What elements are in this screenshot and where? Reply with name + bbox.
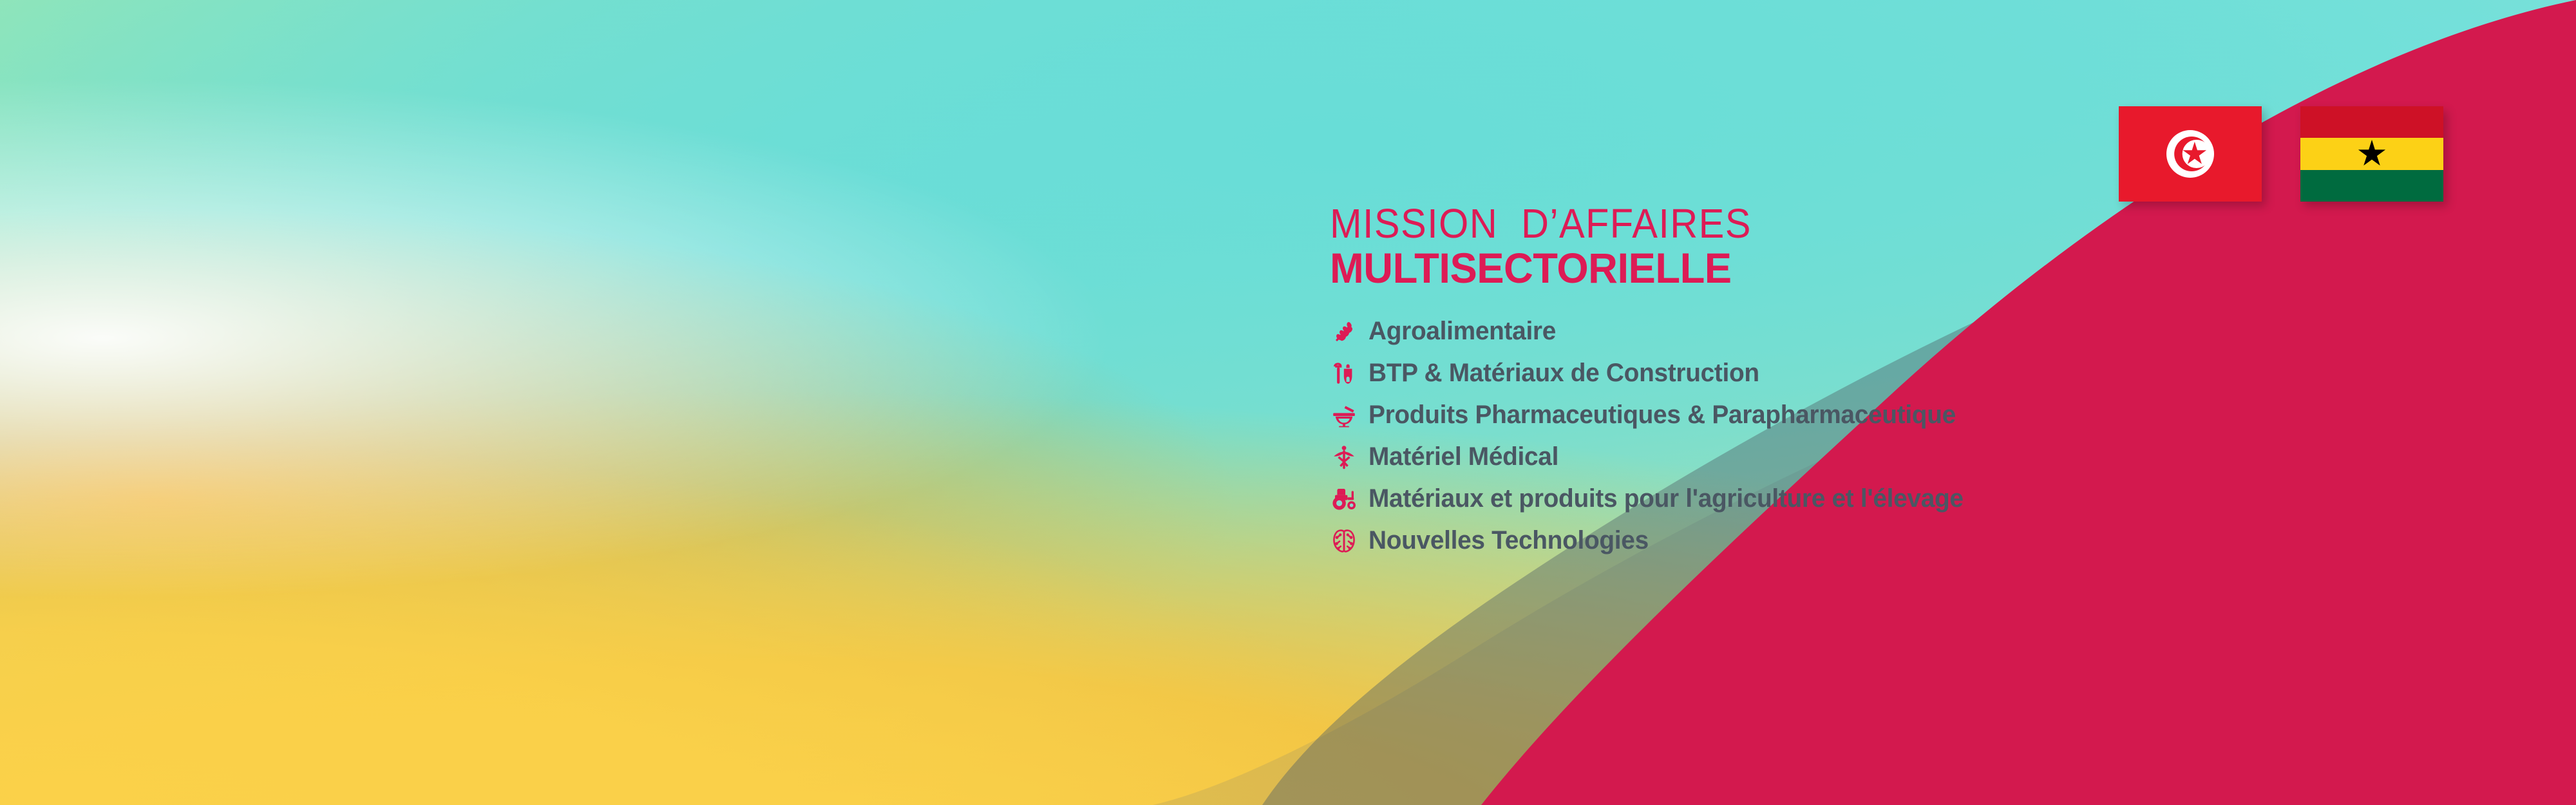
ghana-flag	[2300, 106, 2443, 202]
sector-item-technologies: Nouvelles Technologies	[1330, 520, 1982, 562]
sector-label: Nouvelles Technologies	[1368, 526, 1649, 555]
sector-item-agriculture: Matériaux et produits pour l'agriculture…	[1330, 478, 1982, 520]
sector-item-agroalimentaire: Agroalimentaire	[1330, 310, 1982, 352]
flag-group	[2119, 106, 2443, 202]
title-line-2: MULTISECTORIELLE	[1330, 246, 1956, 291]
sector-label: BTP & Matériaux de Construction	[1368, 359, 1759, 388]
brain-circuit-icon	[1330, 527, 1358, 555]
sector-item-pharma: Produits Pharmaceutiques & Parapharmaceu…	[1330, 394, 1982, 436]
sector-item-medical: Matériel Médical	[1330, 436, 1982, 478]
ghana-stripe-green	[2300, 170, 2443, 202]
ghana-star	[2358, 140, 2386, 168]
tractor-icon	[1330, 485, 1358, 513]
banner-root: MISSION D’AFFAIRES MULTISECTORIELLE	[0, 0, 2576, 805]
ghana-stripe-yellow	[2300, 138, 2443, 169]
sector-label: Produits Pharmaceutiques & Parapharmaceu…	[1368, 401, 1956, 430]
sector-label: Agroalimentaire	[1368, 317, 1556, 346]
sector-label: Matériaux et produits pour l'agriculture…	[1368, 484, 1964, 513]
title-line-1: MISSION D’AFFAIRES	[1330, 203, 1936, 245]
mortar-pestle-icon	[1330, 401, 1358, 430]
content-block: MISSION D’AFFAIRES MULTISECTORIELLE	[1330, 203, 1982, 562]
sector-list: Agroalimentaire BTP & Matériaux de C	[1330, 310, 1982, 562]
sector-label: Matériel Médical	[1368, 442, 1558, 471]
sector-item-btp: BTP & Matériaux de Construction	[1330, 352, 1982, 394]
hammer-trowel-icon	[1330, 359, 1358, 388]
wheat-icon	[1330, 317, 1358, 346]
caduceus-icon	[1330, 443, 1358, 471]
ghana-stripe-red	[2300, 106, 2443, 138]
tunisia-flag	[2119, 106, 2262, 202]
